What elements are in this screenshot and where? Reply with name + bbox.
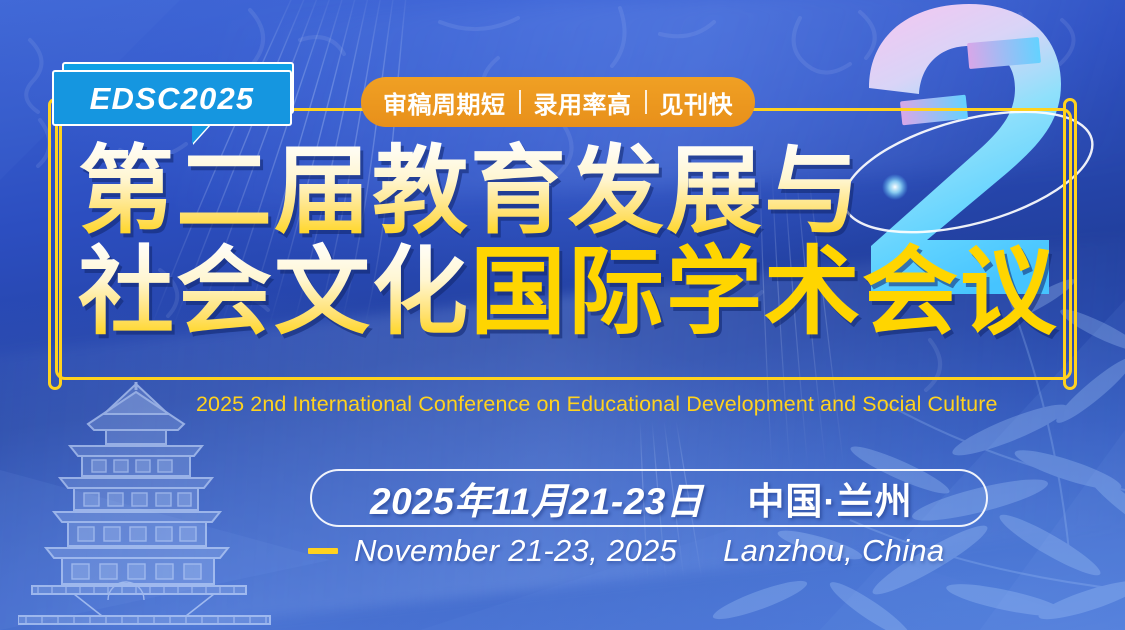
date-en: November 21-23, 2025	[354, 533, 677, 569]
edsc-badge-label: EDSC2025	[90, 83, 255, 114]
date-location-en-row: November 21-23, 2025 Lanzhou, China	[308, 533, 944, 569]
title-line-1-text: 第二届教育发展与	[78, 138, 862, 245]
conference-banner: EDSC2025 审稿周期短 录用率高 见刊快 第二届教育发展与 社会文化国际学…	[0, 0, 1125, 630]
edsc-badge: EDSC2025	[52, 70, 292, 126]
highlight-divider-1	[519, 90, 521, 114]
conference-title: 第二届教育发展与 社会文化国际学术会议	[78, 142, 1068, 344]
dash-accent-icon	[308, 548, 338, 554]
title-line-1: 第二届教育发展与	[78, 142, 1068, 243]
title-line-2-solid-text: 国际学术会议	[470, 239, 1058, 346]
highlights-pill: 审稿周期短 录用率高 见刊快	[361, 77, 755, 127]
highlight-divider-2	[645, 90, 647, 114]
title-line-2: 社会文化国际学术会议	[78, 243, 1068, 344]
highlight-item-2: 录用率高	[534, 85, 632, 120]
frame-pill-left	[48, 98, 62, 390]
date-location-pill: 2025年11月21-23日 中国·兰州	[310, 469, 988, 527]
place-cn: 中国·兰州	[747, 471, 912, 525]
highlight-item-1: 审稿周期短	[383, 85, 506, 120]
english-subtitle: 2025 2nd International Conference on Edu…	[196, 392, 998, 417]
pagoda-tower-icon	[18, 380, 288, 630]
highlight-item-3: 见刊快	[660, 85, 734, 120]
place-en: Lanzhou, China	[723, 533, 944, 569]
date-cn: 2025年11月21-23日	[370, 471, 703, 525]
title-line-2-gradient-text: 社会文化	[78, 239, 470, 346]
